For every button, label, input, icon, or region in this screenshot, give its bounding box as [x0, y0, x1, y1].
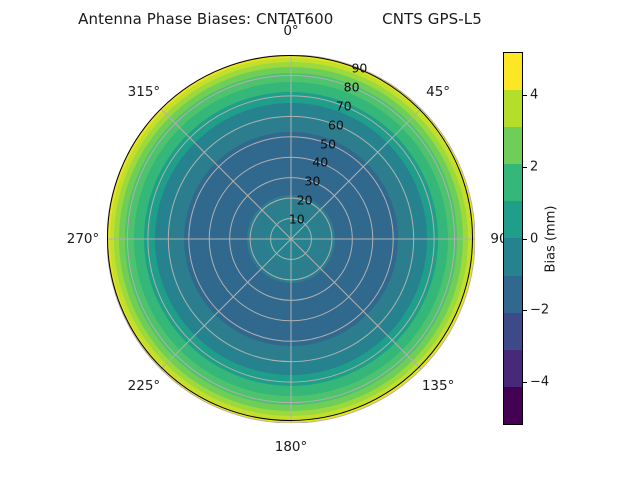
colorbar-segment [504, 387, 522, 424]
colorbar-tick-label-0: 0 [530, 231, 538, 246]
colorbar-segment [504, 238, 522, 275]
azimuth-tick-label-225: 225° [128, 378, 161, 394]
zenith-tick-label-80: 80 [344, 79, 360, 94]
azimuth-tick-label-180: 180° [275, 439, 308, 455]
zenith-tick-label-90: 90 [351, 61, 367, 76]
zenith-tick-label-40: 40 [312, 155, 328, 170]
colorbar-tick-label--4: −4 [530, 374, 549, 389]
colorbar-tick-label-2: 2 [530, 159, 538, 174]
colorbar-tick-label-4: 4 [530, 88, 538, 103]
colorbar-segment [504, 350, 522, 387]
azimuth-tick-label-0: 0° [283, 23, 298, 39]
colorbar-tick [523, 382, 527, 383]
zenith-tick-label-20: 20 [297, 193, 313, 208]
colorbar-title: Bias (mm) [544, 206, 559, 273]
colorbar-tick [523, 95, 527, 96]
colorbar-segment [504, 164, 522, 201]
colorbar-segment [504, 276, 522, 313]
azimuth-tick-label-315: 315° [128, 84, 161, 100]
colorbar-tick-label--2: −2 [530, 303, 549, 318]
zenith-tick-label-60: 60 [328, 117, 344, 132]
zenith-tick-label-50: 50 [320, 136, 336, 151]
colorbar-segment [504, 53, 522, 90]
figure-title: Antenna Phase Biases: CNTAT600 CNTS GPS-… [0, 10, 560, 28]
polar-heatmap-surface [107, 55, 475, 423]
polar-axes[interactable] [107, 55, 475, 423]
colorbar-segment [504, 201, 522, 238]
figure-canvas: Antenna Phase Biases: CNTAT600 CNTS GPS-… [0, 0, 640, 480]
colorbar-segment [504, 127, 522, 164]
zenith-tick-label-10: 10 [289, 212, 305, 227]
azimuth-tick-label-45: 45° [426, 84, 450, 100]
colorbar-segment [504, 90, 522, 127]
colorbar-segment [504, 313, 522, 350]
zenith-tick-label-70: 70 [336, 98, 352, 113]
colorbar-tick [523, 310, 527, 311]
colorbar-tick [523, 239, 527, 240]
zenith-tick-label-30: 30 [305, 174, 321, 189]
colorbar-tick [523, 167, 527, 168]
azimuth-tick-label-270: 270° [67, 231, 100, 247]
azimuth-tick-label-135: 135° [422, 378, 455, 394]
colorbar[interactable] [503, 52, 523, 425]
